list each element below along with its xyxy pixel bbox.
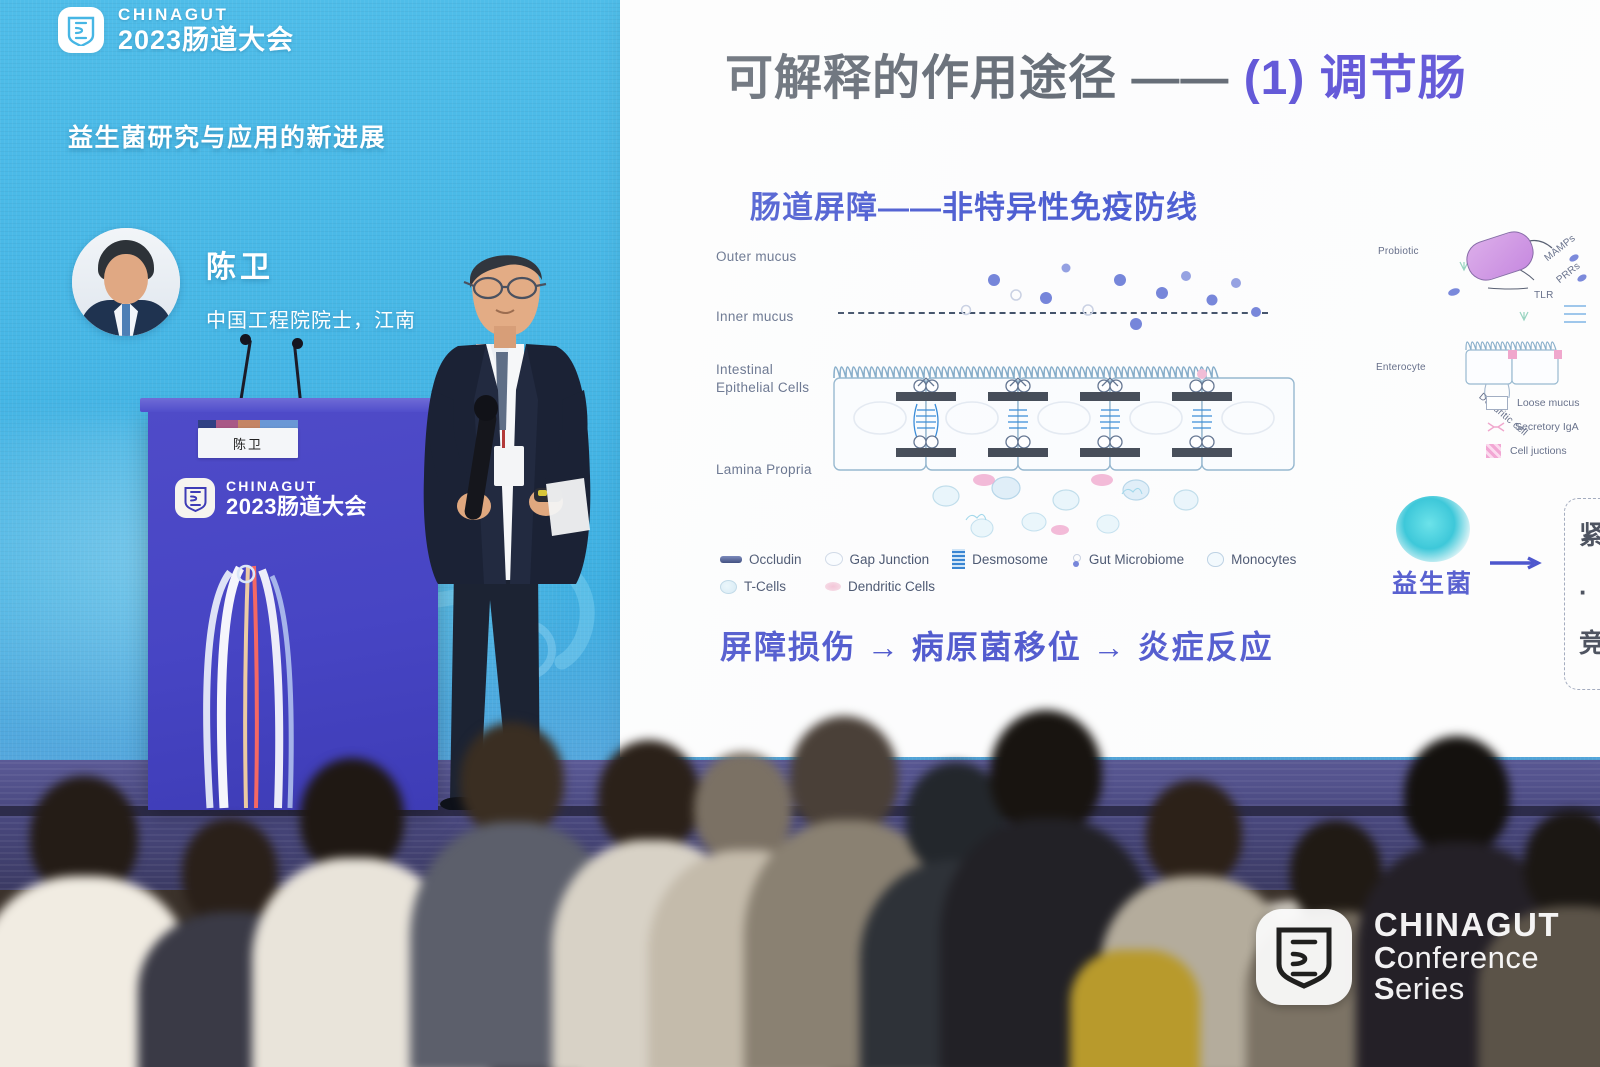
- conference-logo-en: CHINAGUT: [118, 6, 294, 23]
- watermark-line-3-rest: eries: [1395, 971, 1465, 1006]
- speaker-head: [464, 255, 546, 348]
- secretory-iga-icon: [1486, 421, 1506, 433]
- gap-junction-icon: [825, 552, 843, 566]
- outcome-line-1: 紧: [1579, 515, 1600, 552]
- outcome-dashed-box: 紧 · 竞: [1564, 498, 1600, 690]
- projected-slide: 可解释的作用途径 —— (1) 调节肠 肠道屏障——非特异性免疫防线 Outer…: [620, 0, 1600, 757]
- probiotic-cn-label: 益生菌: [1392, 564, 1473, 600]
- gut-logo-icon-watermark: [1256, 909, 1352, 1005]
- microphone-head-right: [292, 338, 303, 349]
- microphone-head-left: [240, 334, 251, 345]
- gut-microbiome-icon: [1071, 554, 1082, 565]
- occludin-icon: [720, 556, 742, 563]
- podium-logo-en: CHINAGUT: [226, 479, 367, 493]
- legend-item-dendritic-cells: Dendritic Cells: [825, 579, 935, 594]
- legend-item-loose-mucus: Loose mucus: [1486, 396, 1579, 410]
- slide-conclusion-text: 屏障损伤 → 病原菌移位 → 炎症反应: [720, 622, 1274, 668]
- legend-label-desmosome: Desmosome: [972, 552, 1048, 567]
- slide-title-main: 可解释的作用途径 ——: [725, 52, 1229, 105]
- presentation-photo: CHINAGUT 2023肠道大会 益生菌研究与应用的新进展 陈卫 中国工程院院…: [0, 0, 1600, 1067]
- figure-legend: Occludin Gap Junction Desmosome Gut Micr…: [720, 549, 1340, 604]
- label-probiotic: Probiotic: [1378, 246, 1419, 257]
- speaker-notes: [546, 478, 590, 536]
- legend-item-gut-microbiome: Gut Microbiome: [1071, 552, 1184, 567]
- legend-label-loose-mucus: Loose mucus: [1517, 397, 1579, 409]
- barrier-diagram-svg: [716, 238, 1316, 538]
- watermark-line-3: Series: [1374, 973, 1560, 1005]
- podium-name-card-text: 陈卫: [233, 434, 263, 453]
- label-tlr: TLR: [1534, 290, 1554, 301]
- outcome-line-2: ·: [1579, 577, 1588, 608]
- legend-label-cell-junctions: Cell juctions: [1510, 445, 1567, 457]
- legend-item-t-cells: T-Cells: [720, 579, 786, 594]
- watermark-line-3-cap: S: [1374, 971, 1395, 1006]
- watermark-line-2-cap: C: [1374, 940, 1397, 975]
- t-cells-icon: [720, 580, 737, 594]
- legend-label-t-cells: T-Cells: [744, 579, 786, 594]
- gut-logo-icon: [58, 7, 104, 53]
- audience: [0, 700, 1600, 1067]
- probiotic-cluster-icon: [1396, 496, 1470, 562]
- speaker-identity-block: 陈卫 中国工程院院士，江南: [72, 228, 416, 336]
- legend-item-occludin: Occludin: [720, 552, 802, 567]
- slide-title-accent: (1) 调节肠: [1244, 52, 1467, 105]
- legend-label-occludin: Occludin: [749, 552, 802, 567]
- watermark-line-2: Conference: [1374, 942, 1560, 974]
- legend-row-2: T-Cells Dendritic Cells: [720, 579, 1340, 594]
- speaker-affiliation: 中国工程院院士，江南: [206, 304, 416, 333]
- legend-item-desmosome: Desmosome: [952, 549, 1048, 569]
- monocytes-icon: [1207, 552, 1224, 567]
- podium-logo-cn: 2023肠道大会: [226, 496, 367, 518]
- label-enterocyte: Enterocyte: [1376, 362, 1426, 373]
- legend-item-monocytes: Monocytes: [1207, 552, 1296, 567]
- legend-row-1: Occludin Gap Junction Desmosome Gut Micr…: [720, 549, 1340, 569]
- probiotic-mechanism-panel: Probiotic MAMPs PRRs TLR Enterocyte Dend…: [1368, 228, 1600, 658]
- slide-subtitle: 肠道屏障——非特异性免疫防线: [750, 182, 1198, 227]
- legend-label-gut-microbiome: Gut Microbiome: [1089, 552, 1184, 567]
- speaker-name: 陈卫: [206, 242, 416, 286]
- right-arrow-icon: [1490, 556, 1546, 570]
- session-title: 益生菌研究与应用的新进展: [68, 118, 386, 154]
- loose-mucus-icon: [1486, 396, 1508, 410]
- conference-logo: CHINAGUT 2023肠道大会: [58, 6, 294, 54]
- legend-label-monocytes: Monocytes: [1231, 552, 1296, 567]
- probiotic-legend: Loose mucus Secretory IgA Cell juctions: [1486, 396, 1579, 469]
- slide-title: 可解释的作用途径 —— (1) 调节肠: [725, 38, 1467, 108]
- legend-item-secretory-iga: Secretory IgA: [1486, 421, 1579, 433]
- podium-name-card: 陈卫: [198, 428, 298, 458]
- outcome-line-3: 竞: [1579, 623, 1600, 660]
- conference-logo-cn: 2023肠道大会: [118, 27, 294, 54]
- intestinal-barrier-figure: Outer mucus Inner mucus Intestinal Epith…: [716, 238, 1316, 538]
- speaker-portrait-avatar: [72, 228, 180, 336]
- legend-label-secretory-iga: Secretory IgA: [1515, 421, 1579, 433]
- watermark-logo: CHINAGUT Conference Series: [1256, 908, 1560, 1005]
- gut-logo-icon-podium: [175, 478, 215, 518]
- desmosome-icon: [952, 549, 965, 569]
- legend-item-gap-junction: Gap Junction: [825, 552, 930, 567]
- watermark-line-2-rest: onference: [1397, 940, 1539, 975]
- cell-junctions-icon: [1486, 444, 1501, 458]
- legend-label-gap-junction: Gap Junction: [850, 552, 930, 567]
- podium-logo: CHINAGUT 2023肠道大会: [175, 478, 367, 518]
- watermark-line-1: CHINAGUT: [1374, 908, 1560, 942]
- dendritic-cells-icon: [825, 582, 841, 591]
- legend-item-cell-junctions: Cell juctions: [1486, 444, 1579, 458]
- legend-label-dendritic-cells: Dendritic Cells: [848, 579, 935, 594]
